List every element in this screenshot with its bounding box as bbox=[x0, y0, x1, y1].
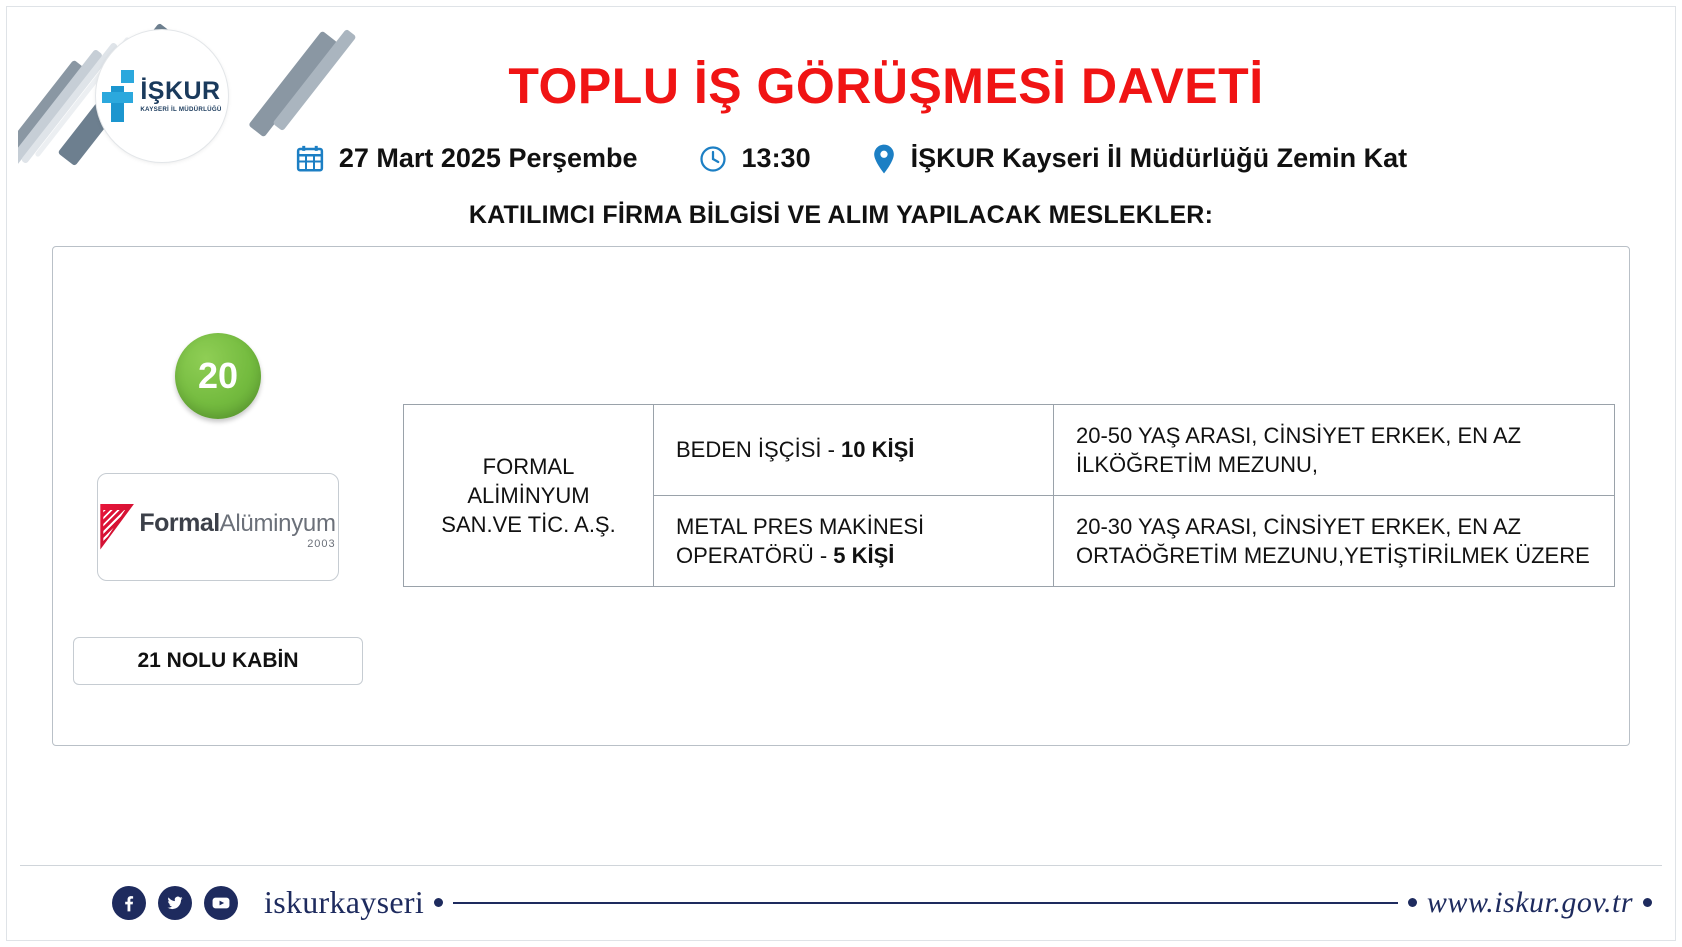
twitter-icon[interactable] bbox=[158, 886, 192, 920]
footer-dot-mid bbox=[1408, 898, 1417, 907]
firm-panel: 20 Formal Alüminyum 2003 21 NOLU KABİ bbox=[52, 246, 1630, 746]
jobs-table: FORMAL ALİMİNYUM SAN.VE TİC. A.Ş. BEDEN … bbox=[403, 404, 1615, 587]
event-time-text: 13:30 bbox=[742, 143, 811, 174]
firm-logo-year: 2003 bbox=[139, 539, 335, 550]
footer-dot-right bbox=[1643, 898, 1652, 907]
job-count-text: 5 KİŞİ bbox=[833, 543, 894, 568]
cabin-label: 21 NOLU KABİN bbox=[73, 637, 363, 685]
event-date: 27 Mart 2025 Perşembe bbox=[295, 143, 638, 174]
job-title-cell: METAL PRES MAKİNESİ OPERATÖRÜ - 5 KİŞİ bbox=[654, 496, 1054, 587]
firm-logo-word-bold: Formal bbox=[139, 511, 219, 536]
firm-logo: Formal Alüminyum 2003 bbox=[97, 473, 339, 581]
calendar-icon bbox=[295, 144, 325, 174]
youtube-icon[interactable] bbox=[204, 886, 238, 920]
footer-website-group: www.iskur.gov.tr bbox=[424, 886, 1662, 920]
footer: iskurkayseri www.iskur.gov.tr bbox=[20, 865, 1662, 939]
iskur-logo-subtitle: KAYSERİ İL MÜDÜRLÜĞÜ bbox=[140, 107, 221, 113]
page-title: TOPLU İŞ GÖRÜŞMESİ DAVETİ bbox=[110, 60, 1662, 113]
firm-logo-word-light: Alüminyum bbox=[220, 512, 336, 536]
jobs-table-wrap: FORMAL ALİMİNYUM SAN.VE TİC. A.Ş. BEDEN … bbox=[383, 247, 1629, 745]
job-title-text: BEDEN İŞÇİSİ - bbox=[676, 437, 841, 462]
firm-number-badge: 20 bbox=[175, 333, 261, 419]
poster-root: İŞKUR KAYSERİ İL MÜDÜRLÜĞÜ TOPLU İŞ GÖRÜ… bbox=[0, 0, 1682, 947]
iskur-logo-title: İŞKUR bbox=[140, 79, 221, 104]
table-row: FORMAL ALİMİNYUM SAN.VE TİC. A.Ş. BEDEN … bbox=[404, 404, 1615, 495]
job-requirements-cell: 20-30 YAŞ ARASI, CİNSİYET ERKEK, EN AZ O… bbox=[1054, 496, 1615, 587]
firm-left-column: 20 Formal Alüminyum 2003 21 NOLU KABİ bbox=[53, 247, 383, 745]
firm-name-cell: FORMAL ALİMİNYUM SAN.VE TİC. A.Ş. bbox=[404, 404, 654, 586]
job-requirements-cell: 20-50 YAŞ ARASI, CİNSİYET ERKEK, EN AZ İ… bbox=[1054, 404, 1615, 495]
iskur-logo: İŞKUR KAYSERİ İL MÜDÜRLÜĞÜ bbox=[96, 30, 228, 162]
footer-rule bbox=[453, 902, 1398, 904]
formal-triangle-icon bbox=[100, 504, 134, 550]
map-pin-icon bbox=[871, 143, 897, 175]
event-location-text: İŞKUR Kayseri İl Müdürlüğü Zemin Kat bbox=[911, 143, 1408, 174]
facebook-icon[interactable] bbox=[112, 886, 146, 920]
iskur-figure-icon bbox=[102, 70, 136, 122]
job-title-cell: BEDEN İŞÇİSİ - 10 KİŞİ bbox=[654, 404, 1054, 495]
footer-social-group: iskurkayseri bbox=[112, 884, 424, 921]
section-heading: KATILIMCI FİRMA BİLGİSİ VE ALIM YAPILACA… bbox=[20, 201, 1662, 230]
website-text: www.iskur.gov.tr bbox=[1427, 886, 1633, 920]
event-date-text: 27 Mart 2025 Perşembe bbox=[339, 143, 638, 174]
social-handle: iskurkayseri bbox=[264, 884, 424, 921]
event-location: İŞKUR Kayseri İl Müdürlüğü Zemin Kat bbox=[871, 143, 1408, 175]
clock-icon bbox=[698, 144, 728, 174]
event-time: 13:30 bbox=[698, 143, 811, 174]
job-count-text: 10 KİŞİ bbox=[841, 437, 914, 462]
footer-dot-left bbox=[434, 898, 443, 907]
event-meta-row: 27 Mart 2025 Perşembe 13:30 İŞKUR Kayser… bbox=[20, 143, 1662, 175]
